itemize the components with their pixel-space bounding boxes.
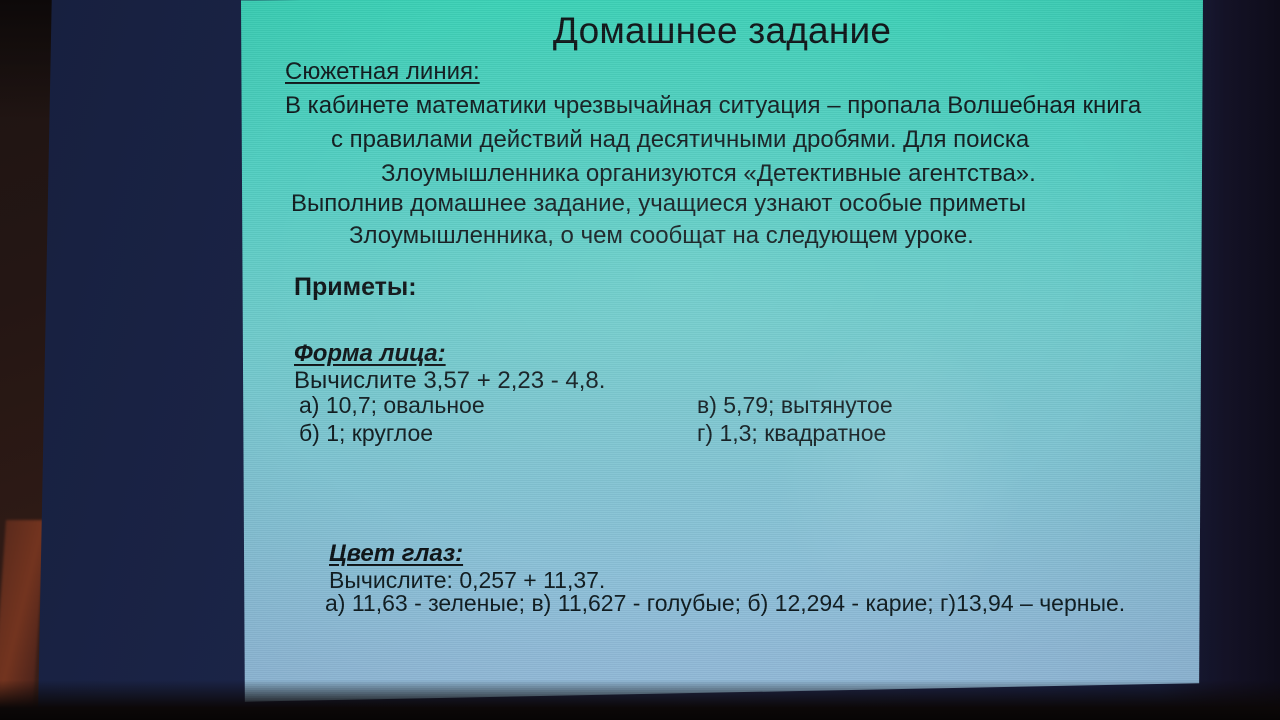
face-shape-option-g: г) 1,3; квадратное <box>697 422 886 445</box>
eye-color-options: а) 11,63 - зеленые; в) 11,627 - голубые;… <box>325 592 1125 615</box>
storyline-line-5: Злоумышленника, о чем сообщат на следующ… <box>349 224 974 248</box>
face-shape-question: Вычислите 3,57 + 2,23 - 4,8. <box>294 369 605 393</box>
bezel-bottom-shadow <box>0 680 1280 720</box>
eye-color-heading: Цвет глаз: <box>329 542 463 566</box>
face-shape-option-v: в) 5,79; вытянутое <box>697 394 893 417</box>
eye-color-question: Вычислите: 0,257 + 11,37. <box>329 569 605 592</box>
signs-heading: Приметы: <box>294 275 417 300</box>
face-shape-heading: Форма лица: <box>294 342 446 366</box>
photo-of-projected-slide: Домашнее задание Сюжетная линия: В кабин… <box>0 0 1280 720</box>
face-shape-option-b: б) 1; круглое <box>299 422 433 445</box>
storyline-line-4: Выполнив домашнее задание, учащиеся узна… <box>291 192 1026 216</box>
storyline-line-1: В кабинете математики чрезвычайная ситуа… <box>285 94 1141 118</box>
face-shape-option-a: а) 10,7; овальное <box>299 394 485 417</box>
slide-content: Домашнее задание Сюжетная линия: В кабин… <box>241 0 1203 706</box>
slide-screen: Домашнее задание Сюжетная линия: В кабин… <box>241 0 1203 706</box>
storyline-line-2: с правилами действий над десятичными дро… <box>331 128 1029 152</box>
storyline-line-3: Злоумышленника организуются «Детективные… <box>381 162 1036 186</box>
slide-title: Домашнее задание <box>241 12 1203 49</box>
storyline-heading: Сюжетная линия: <box>285 60 480 84</box>
